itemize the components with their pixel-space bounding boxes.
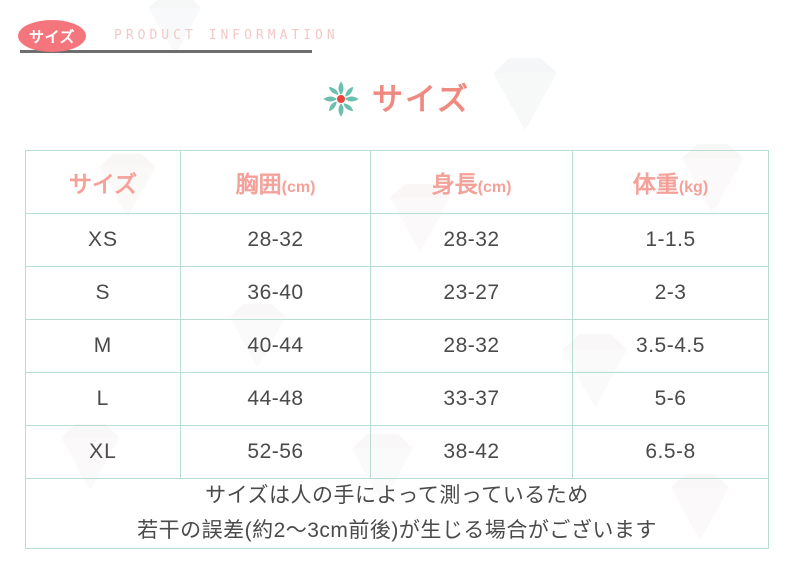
size-badge: サイズ <box>18 20 86 52</box>
table-row: XS 28-32 28-32 1-1.5 <box>26 214 769 267</box>
column-header-size-label: サイズ <box>69 171 137 197</box>
cell-length: 28-32 <box>371 320 573 373</box>
table-header-row: サイズ 胸囲(cm) 身長(cm) 体重(kg) <box>26 151 769 214</box>
size-chart-table: サイズ 胸囲(cm) 身長(cm) 体重(kg) XS 28-32 28-32 … <box>25 150 769 549</box>
section-title-row: サイズ <box>0 76 790 122</box>
cell-size: XS <box>26 214 181 267</box>
flower-icon <box>320 78 362 120</box>
table-note-line-1: サイズは人の手によって測っているため <box>26 479 768 514</box>
section-title: サイズ <box>372 84 470 115</box>
cell-length: 38-42 <box>371 426 573 479</box>
column-header-chest: 胸囲(cm) <box>181 151 371 214</box>
cell-chest: 44-48 <box>181 373 371 426</box>
cell-weight: 2-3 <box>573 267 769 320</box>
cell-length: 23-27 <box>371 267 573 320</box>
cell-chest: 40-44 <box>181 320 371 373</box>
page-header: サイズ PRODUCT INFORMATION <box>0 0 790 60</box>
column-header-chest-label: 胸囲 <box>236 171 282 197</box>
cell-length: 28-32 <box>371 214 573 267</box>
cell-weight: 1-1.5 <box>573 214 769 267</box>
column-header-weight-unit: (kg) <box>679 179 708 196</box>
table-row: M 40-44 28-32 3.5-4.5 <box>26 320 769 373</box>
cell-size: XL <box>26 426 181 479</box>
table-row: S 36-40 23-27 2-3 <box>26 267 769 320</box>
cell-chest: 28-32 <box>181 214 371 267</box>
cell-size: M <box>26 320 181 373</box>
table-note: サイズは人の手によって測っているため 若干の誤差(約2〜3cm前後)が生じる場合… <box>26 479 769 549</box>
product-information-subtitle: PRODUCT INFORMATION <box>114 28 339 43</box>
cell-weight: 6.5-8 <box>573 426 769 479</box>
column-header-size: サイズ <box>26 151 181 214</box>
column-header-length: 身長(cm) <box>371 151 573 214</box>
column-header-length-unit: (cm) <box>478 179 512 196</box>
table-note-row: サイズは人の手によって測っているため 若干の誤差(約2〜3cm前後)が生じる場合… <box>26 479 769 549</box>
table-row: L 44-48 33-37 5-6 <box>26 373 769 426</box>
column-header-length-label: 身長 <box>432 171 478 197</box>
column-header-weight-label: 体重 <box>633 171 679 197</box>
cell-weight: 5-6 <box>573 373 769 426</box>
table-row: XL 52-56 38-42 6.5-8 <box>26 426 769 479</box>
column-header-chest-unit: (cm) <box>282 179 316 196</box>
cell-size: L <box>26 373 181 426</box>
cell-chest: 52-56 <box>181 426 371 479</box>
cell-size: S <box>26 267 181 320</box>
column-header-weight: 体重(kg) <box>573 151 769 214</box>
cell-length: 33-37 <box>371 373 573 426</box>
cell-chest: 36-40 <box>181 267 371 320</box>
cell-weight: 3.5-4.5 <box>573 320 769 373</box>
table-note-line-2: 若干の誤差(約2〜3cm前後)が生じる場合がございます <box>26 514 768 549</box>
